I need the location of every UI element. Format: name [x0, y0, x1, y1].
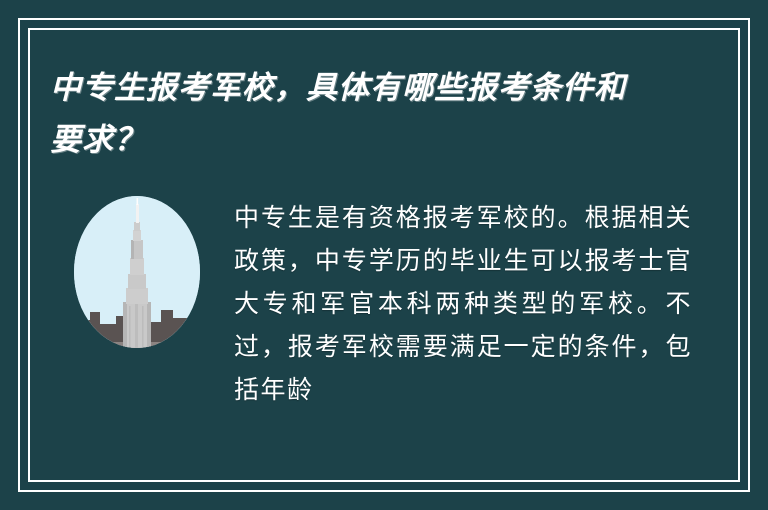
page-title: 中专生报考军校，具体有哪些报考条件和要求？ [50, 62, 650, 166]
empire-state-building-illustration [74, 196, 200, 348]
article-card: 中专生报考军校，具体有哪些报考条件和要求？ [0, 0, 768, 510]
article-body-row: 中专生是有资格报考军校的。根据相关政策，中专学历的毕业生可以报考士官大专和军官本… [0, 196, 768, 411]
thumbnail-container [74, 196, 204, 348]
article-paragraph: 中专生是有资格报考军校的。根据相关政策，中专学历的毕业生可以报考士官大专和军官本… [234, 196, 692, 411]
